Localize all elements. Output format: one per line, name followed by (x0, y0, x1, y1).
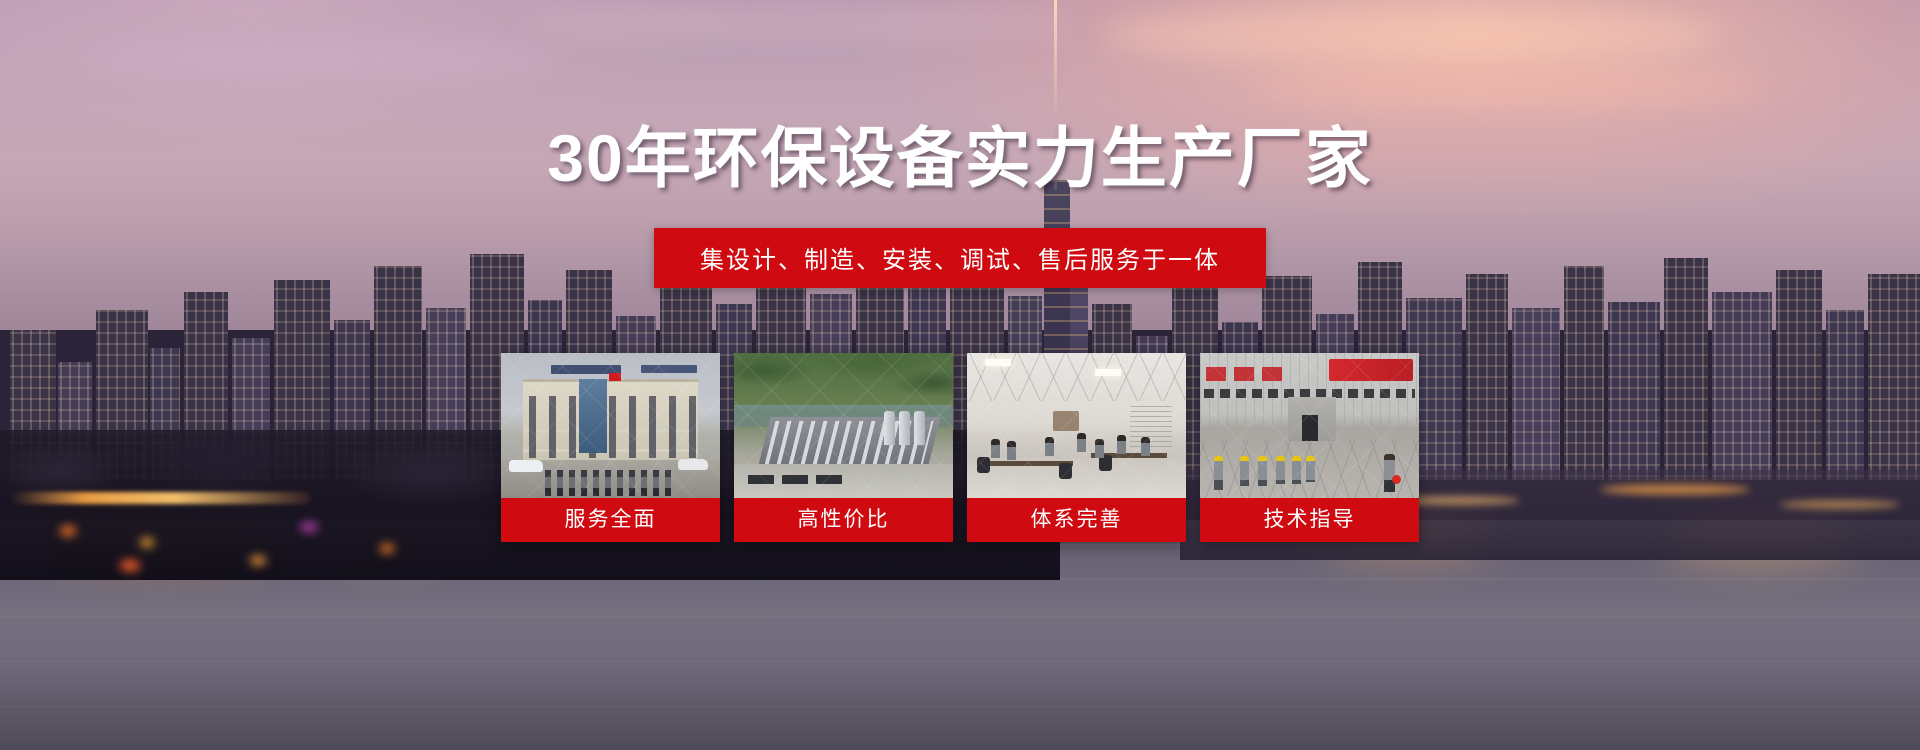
card-label-value: 高性价比 (734, 498, 953, 542)
feature-card-guidance[interactable]: 技术指导 (1200, 353, 1419, 542)
red-helmet-icon (1392, 475, 1401, 484)
feature-card-list: 服务全面 高性价比 (501, 353, 1419, 542)
supervisor-figure (1384, 454, 1395, 492)
card-image-office-interior (967, 353, 1186, 498)
hero-banner: 30年环保设备实力生产厂家 集设计、制造、安装、调试、售后服务于一体 (0, 0, 1920, 750)
feature-card-service[interactable]: 服务全面 (501, 353, 720, 542)
wall-emblem (1053, 411, 1079, 431)
feature-card-system[interactable]: 体系完善 (967, 353, 1186, 542)
flag-icon (609, 373, 621, 381)
card-label-service: 服务全面 (501, 498, 720, 542)
card-image-office-building (501, 353, 720, 498)
feature-card-value[interactable]: 高性价比 (734, 353, 953, 542)
window-blinds (1130, 405, 1172, 447)
phone-number-sign (641, 365, 697, 373)
card-label-system: 体系完善 (967, 498, 1186, 542)
bridge-lights (10, 492, 310, 504)
card-image-factory-workers (1200, 353, 1419, 498)
page-title: 30年环保设备实力生产厂家 (0, 105, 1920, 201)
subtitle-banner: 集设计、制造、安装、调试、售后服务于一体 (654, 228, 1266, 288)
factory-slogan-banner (1329, 359, 1413, 381)
card-image-aerial-plant (734, 353, 953, 498)
card-label-guidance: 技术指导 (1200, 498, 1419, 542)
